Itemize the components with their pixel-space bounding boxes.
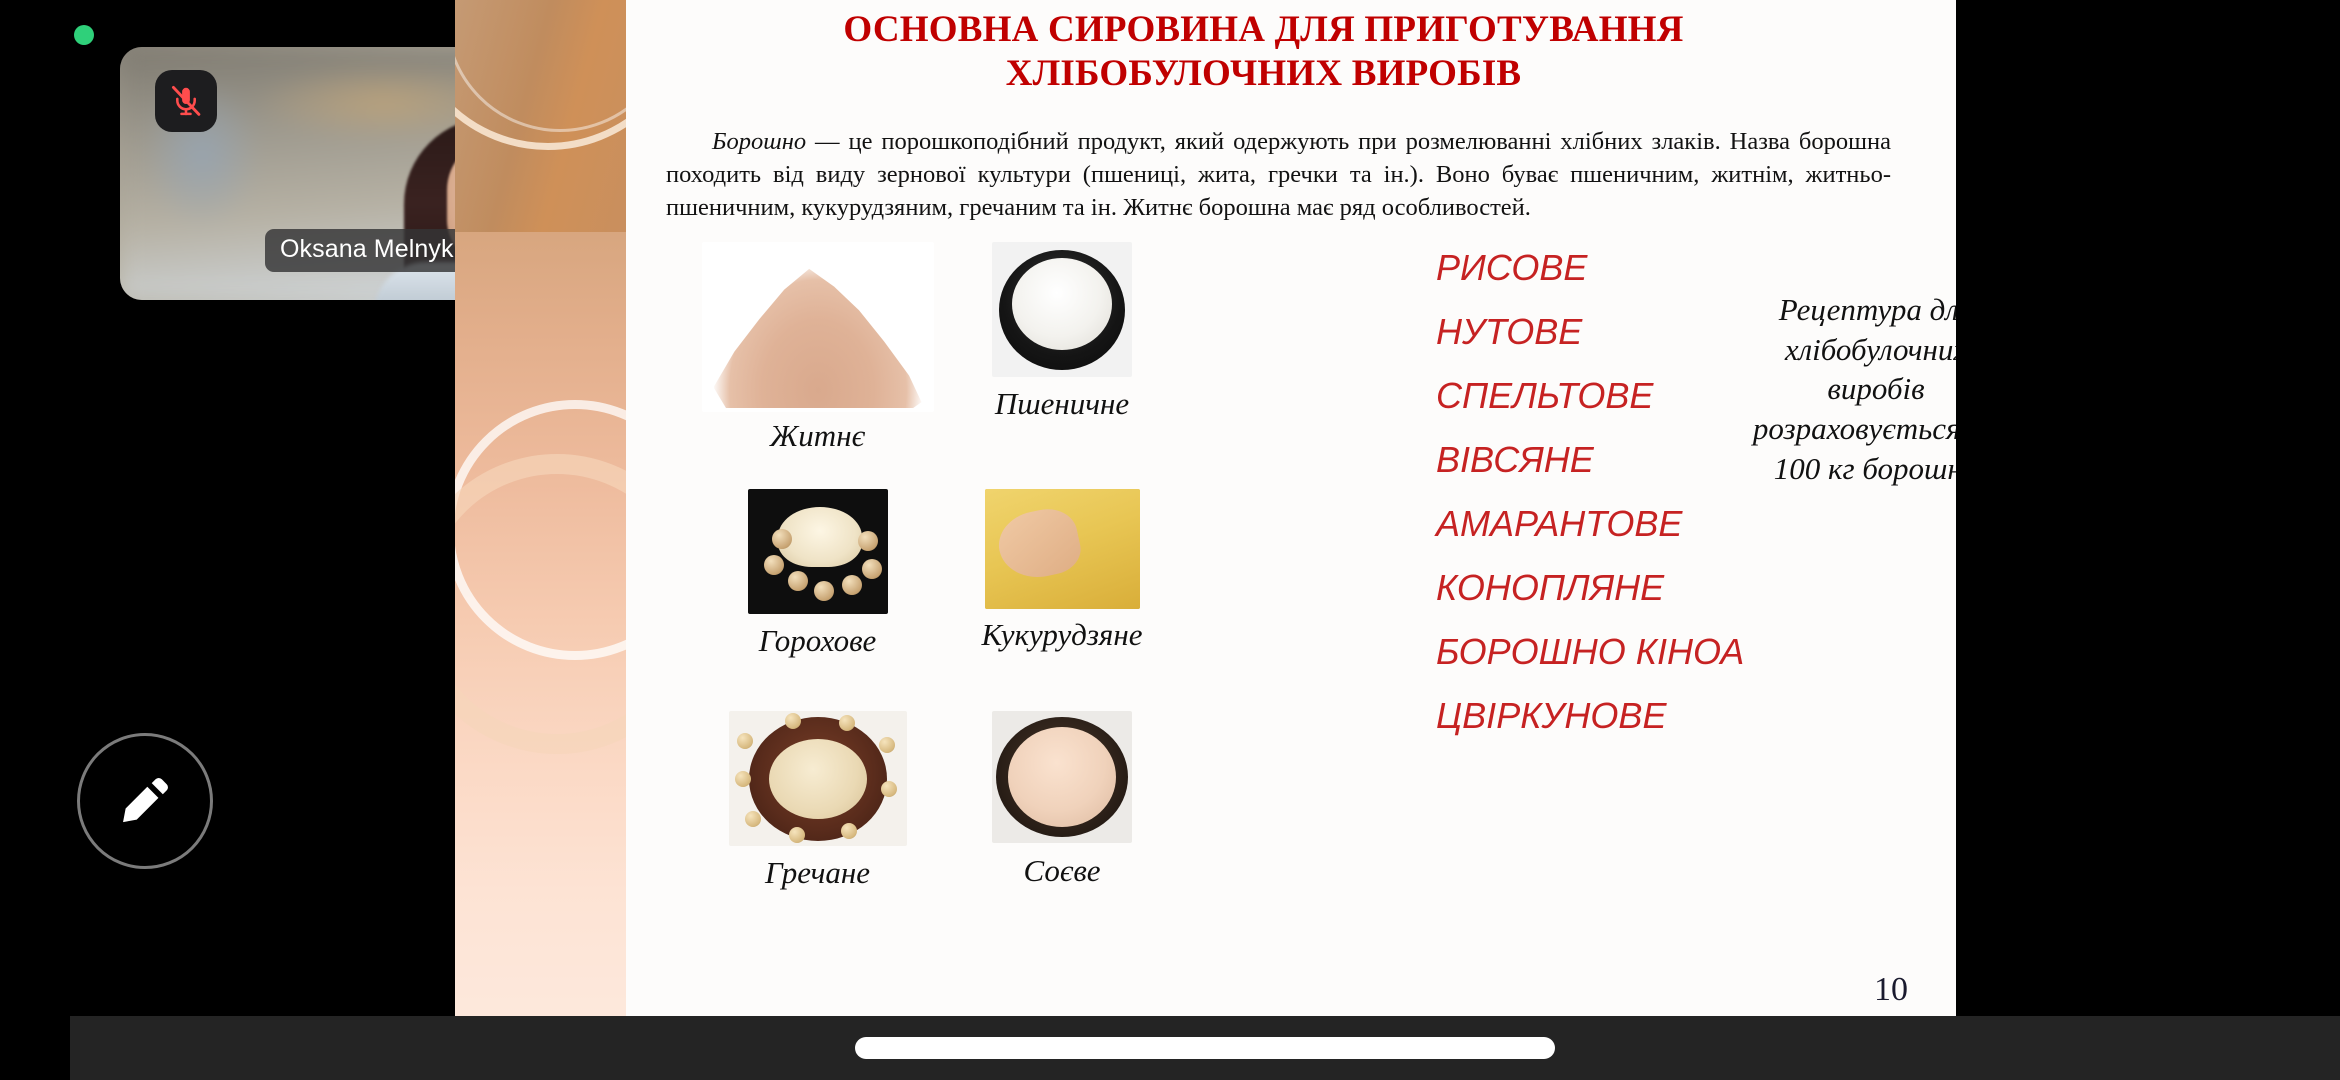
bottom-system-bar bbox=[70, 1016, 2340, 1080]
flour-photo-caption: Соєве bbox=[964, 853, 1160, 889]
right-gutter bbox=[1956, 0, 2340, 1036]
flour-photo-caption: Горохове bbox=[690, 623, 945, 659]
flour-photo-row: Гречане Соєве bbox=[666, 699, 1226, 909]
wheat-flour-mound bbox=[1012, 258, 1112, 350]
participant-name-label: Oksana Melnyk bbox=[265, 229, 469, 272]
chickpea bbox=[842, 575, 862, 595]
recipe-note-line: хлібобулочних bbox=[1726, 330, 1956, 370]
corn-flour-photo bbox=[985, 489, 1140, 609]
flour-photo-caption: Кукурудзяне bbox=[964, 617, 1160, 653]
rye-flour-heap bbox=[714, 260, 922, 408]
soybean bbox=[737, 733, 753, 749]
slide-decorative-band bbox=[455, 0, 626, 1036]
recipe-note-line: розраховується на bbox=[1726, 409, 1956, 449]
flour-photo-caption: Пшеничне bbox=[964, 386, 1160, 422]
buckwheat-flour-photo bbox=[729, 711, 907, 846]
flour-photo-caption: Гречане bbox=[690, 855, 945, 891]
flour-photo-item: Соєве bbox=[964, 711, 1160, 843]
soybean bbox=[745, 811, 761, 827]
flour-list-item: КОНОПЛЯНЕ bbox=[1436, 570, 1826, 606]
flour-photo-row: Житнє Пшеничне bbox=[666, 242, 1226, 477]
soybean bbox=[881, 781, 897, 797]
presentation-slide[interactable]: ОСНОВНА СИРОВИНА ДЛЯ ПРИГОТУВАННЯ ХЛІБОБ… bbox=[455, 0, 1956, 1036]
mic-muted-icon[interactable] bbox=[155, 70, 217, 132]
slide-content: ОСНОВНА СИРОВИНА ДЛЯ ПРИГОТУВАННЯ ХЛІБОБ… bbox=[626, 0, 1956, 1036]
flour-photo-item: Житнє bbox=[690, 242, 945, 412]
slide-title-line-1: ОСНОВНА СИРОВИНА ДЛЯ ПРИГОТУВАННЯ bbox=[666, 8, 1861, 52]
chickpea bbox=[814, 581, 834, 601]
soy-flour-mound bbox=[1008, 727, 1116, 827]
wheat-flour-photo bbox=[992, 242, 1132, 377]
slide-paragraph: Борошно — це порошкоподібний продукт, як… bbox=[666, 126, 1891, 224]
annotate-pencil-button[interactable] bbox=[77, 733, 213, 869]
soybean bbox=[839, 715, 855, 731]
slide-title-line-2: ХЛІБОБУЛОЧНИХ ВИРОБІВ bbox=[666, 52, 1861, 96]
pea-flour-photo bbox=[748, 489, 888, 614]
flour-list-item: БОРОШНО КІНОА bbox=[1436, 634, 1826, 670]
recipe-note-line: 100 кг борошна bbox=[1726, 449, 1956, 489]
flour-photo-item: Кукурудзяне bbox=[964, 489, 1160, 609]
chickpea bbox=[862, 559, 882, 579]
soybean bbox=[879, 737, 895, 753]
paragraph-body: — це порошкоподібний продукт, який одерж… bbox=[666, 128, 1891, 221]
flour-list-item: АМАРАНТОВЕ bbox=[1436, 506, 1826, 542]
buckwheat-flour-mound bbox=[769, 739, 867, 819]
recipe-note: Рецептура для хлібобулочних виробів розр… bbox=[1726, 290, 1956, 488]
flour-photo-row: Горохове Кукурудзяне bbox=[666, 477, 1226, 699]
screen-root: Oksana Melnyk bbox=[0, 0, 2340, 1080]
deco-ring bbox=[455, 454, 626, 754]
rye-flour-photo bbox=[702, 242, 934, 412]
slide-title: ОСНОВНА СИРОВИНА ДЛЯ ПРИГОТУВАННЯ ХЛІБОБ… bbox=[666, 8, 1861, 95]
soybean bbox=[841, 823, 857, 839]
recipe-note-line: Рецептура для bbox=[1726, 290, 1956, 330]
flour-photo-grid: Житнє Пшеничне bbox=[666, 242, 1226, 909]
flour-photo-item: Пшеничне bbox=[964, 242, 1160, 377]
flour-list-item: РИСОВЕ bbox=[1436, 250, 1826, 286]
flour-photo-item: Горохове bbox=[690, 489, 945, 614]
soybean bbox=[789, 827, 805, 843]
flour-list-item: ЦВІРКУНОВЕ bbox=[1436, 698, 1826, 734]
paragraph-lead-term: Борошно bbox=[712, 128, 806, 155]
recipe-note-line: виробів bbox=[1726, 369, 1956, 409]
flour-photo-caption: Житнє bbox=[690, 418, 945, 454]
soybean bbox=[785, 713, 801, 729]
pencil-edit-icon bbox=[114, 770, 176, 832]
slide-page-number: 10 bbox=[1874, 971, 1908, 1009]
soybean bbox=[735, 771, 751, 787]
chickpea bbox=[764, 555, 784, 575]
video-panel: Oksana Melnyk bbox=[0, 0, 455, 1036]
chickpea bbox=[772, 529, 792, 549]
presence-online-dot bbox=[74, 25, 94, 45]
home-indicator[interactable] bbox=[855, 1037, 1555, 1059]
flour-photo-item: Гречане bbox=[690, 711, 945, 846]
chickpea bbox=[788, 571, 808, 591]
soy-flour-photo bbox=[992, 711, 1132, 843]
chickpea bbox=[858, 531, 878, 551]
